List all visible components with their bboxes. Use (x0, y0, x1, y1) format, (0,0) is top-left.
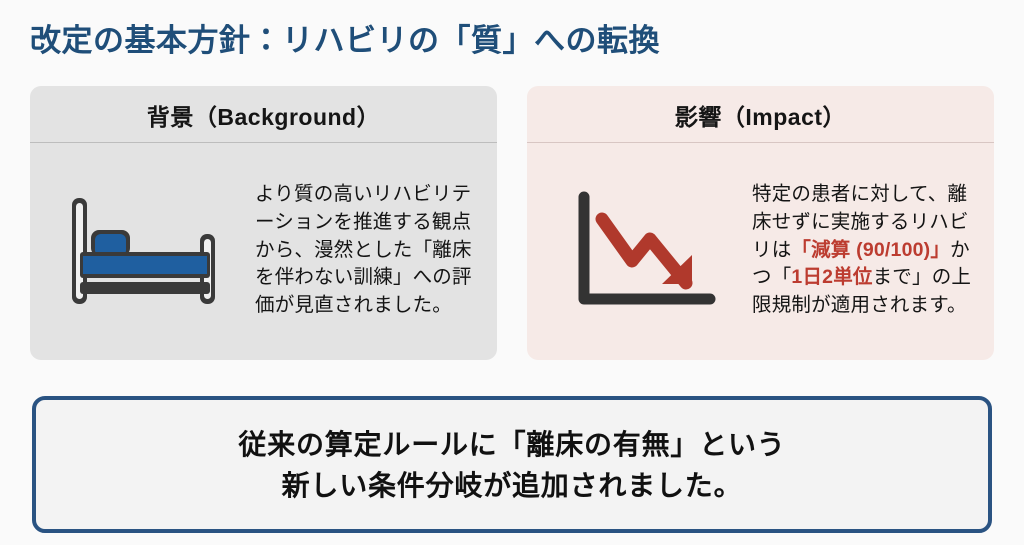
hospital-bed-icon (40, 190, 255, 312)
impact-highlight-units: 1日2単位 (791, 266, 872, 288)
card-background: 背景（Background） (30, 86, 497, 360)
card-background-text: より質の高いリハビリテーションを推進する観点から、漫然とした「離床を伴わない訓練… (255, 181, 481, 319)
declining-chart-icon (537, 189, 752, 313)
summary-banner: 従来の算定ルールに「離床の有無」という 新しい条件分岐が追加されました。 (32, 396, 992, 533)
card-background-header: 背景（Background） (30, 86, 497, 143)
card-impact: 影響（Impact） 特定の患者に対して、離床せずに実施するリハビリは「減算 (… (527, 86, 994, 360)
card-impact-body: 特定の患者に対して、離床せずに実施するリハビリは「減算 (90/100)」かつ「… (527, 143, 994, 360)
impact-highlight-genzan: 「減算 (90/100)」 (791, 239, 950, 261)
page-title: 改定の基本方針：リハビリの「質」への転換 (30, 22, 660, 59)
summary-banner-line-1: 従来の算定ルールに「離床の有無」という (238, 427, 785, 462)
card-impact-header: 影響（Impact） (527, 86, 994, 143)
summary-banner-line-2: 新しい条件分岐が追加されました。 (282, 468, 743, 503)
card-background-body: より質の高いリハビリテーションを推進する観点から、漫然とした「離床を伴わない訓練… (30, 143, 497, 360)
cards-row: 背景（Background） (30, 86, 994, 360)
slide-canvas: 改定の基本方針：リハビリの「質」への転換 背景（Background） (0, 0, 1024, 545)
card-impact-text: 特定の患者に対して、離床せずに実施するリハビリは「減算 (90/100)」かつ「… (752, 181, 978, 319)
